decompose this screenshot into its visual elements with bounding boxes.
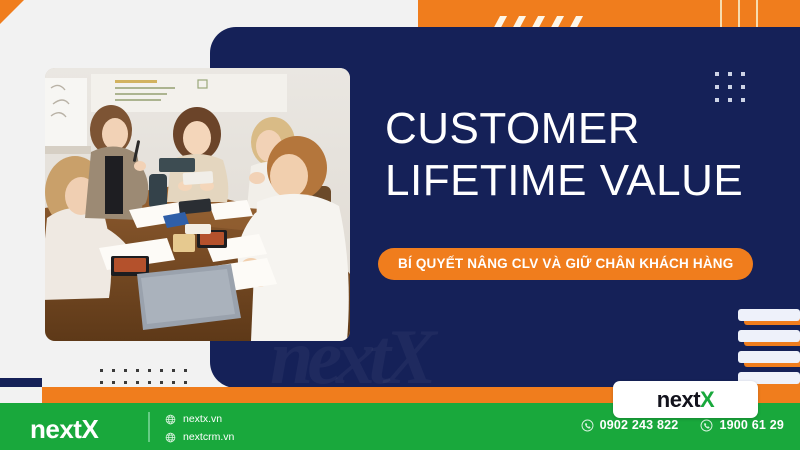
dot-grid-decoration — [715, 72, 745, 102]
footer-link-nextcrm[interactable]: nextcrm.vn — [165, 429, 234, 445]
headline-line-2: LIFETIME VALUE — [385, 155, 765, 207]
globe-icon — [165, 414, 176, 425]
brand-pill-suffix: X — [700, 387, 714, 413]
meeting-photo-illustration — [45, 68, 350, 341]
banner-canvas: nextX CUSTOMER LIFETIME VALUE BÍ QUYẾT N… — [0, 0, 800, 450]
banner-subtitle-pill: BÍ QUYẾT NÂNG CLV VÀ GIỮ CHÂN KHÁCH HÀNG — [378, 248, 753, 280]
brand-pill[interactable]: nextX — [613, 381, 758, 418]
globe-icon — [165, 432, 176, 443]
phone-number: 1900 61 29 — [719, 418, 784, 432]
phone-number: 0902 243 822 — [600, 418, 679, 432]
meeting-photo — [45, 68, 350, 341]
orange-strip-gap — [0, 387, 42, 403]
footer-divider — [148, 412, 150, 442]
headline-line-1: CUSTOMER — [385, 104, 640, 153]
phone-icon — [700, 419, 713, 432]
footer-phones: 0902 243 822 1900 61 29 — [581, 418, 784, 432]
footer-link-label: nextx.vn — [183, 413, 222, 425]
brand-pill-prefix: next — [657, 387, 700, 413]
footer-link-label: nextcrm.vn — [183, 431, 234, 443]
phone-mobile[interactable]: 0902 243 822 — [581, 418, 679, 432]
phone-hotline[interactable]: 1900 61 29 — [700, 418, 784, 432]
corner-triangle-decoration — [0, 0, 24, 24]
bar-stack-decoration — [738, 309, 800, 388]
banner-headline: CUSTOMER LIFETIME VALUE — [385, 103, 765, 207]
footer-link-nextx[interactable]: nextx.vn — [165, 411, 234, 427]
footer-logo: nextX — [30, 414, 98, 445]
phone-icon — [581, 419, 594, 432]
footer-links: nextx.vn nextcrm.vn — [165, 411, 234, 447]
